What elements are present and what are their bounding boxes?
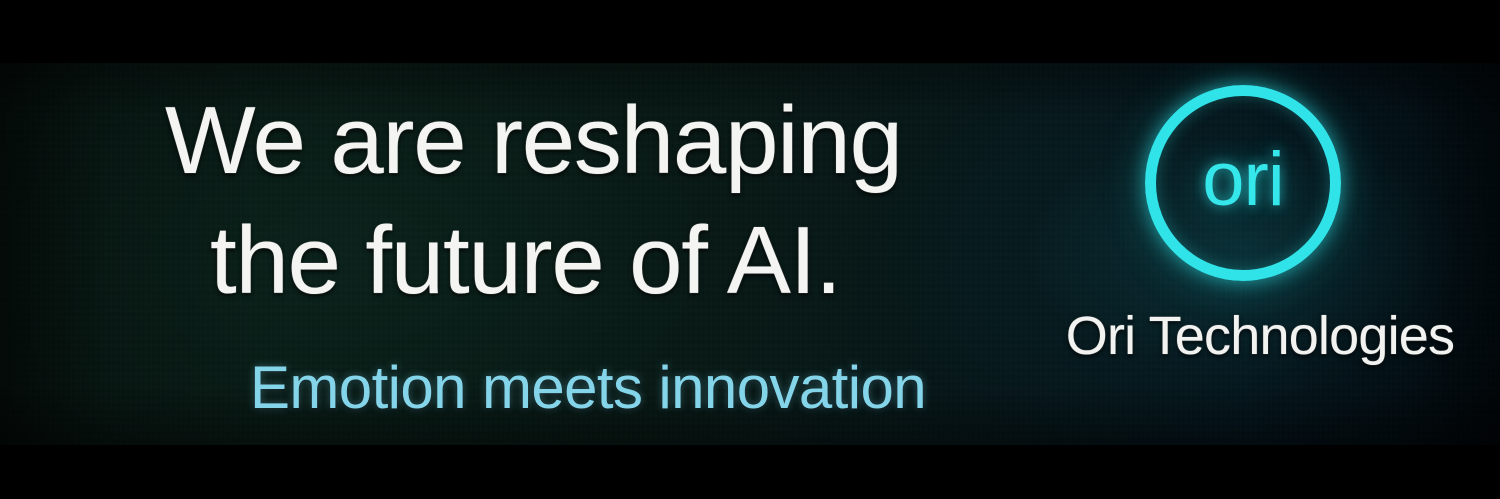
letterbox-bar-top xyxy=(0,0,1500,63)
subheadline-tagline: Emotion meets innovation xyxy=(250,358,926,418)
ori-circle-logo-icon: ori xyxy=(1145,85,1341,281)
headline-line-1: We are reshaping xyxy=(165,93,902,189)
company-wordmark: Ori Technologies xyxy=(1040,309,1480,363)
logo-mark-label: ori xyxy=(1145,85,1341,281)
letterbox-bar-bottom xyxy=(0,445,1500,499)
logo-block: ori Ori Technologies xyxy=(1040,63,1480,445)
promo-banner: We are reshaping the future of AI. Emoti… xyxy=(0,0,1500,499)
headline-line-2: the future of AI. xyxy=(210,213,841,309)
